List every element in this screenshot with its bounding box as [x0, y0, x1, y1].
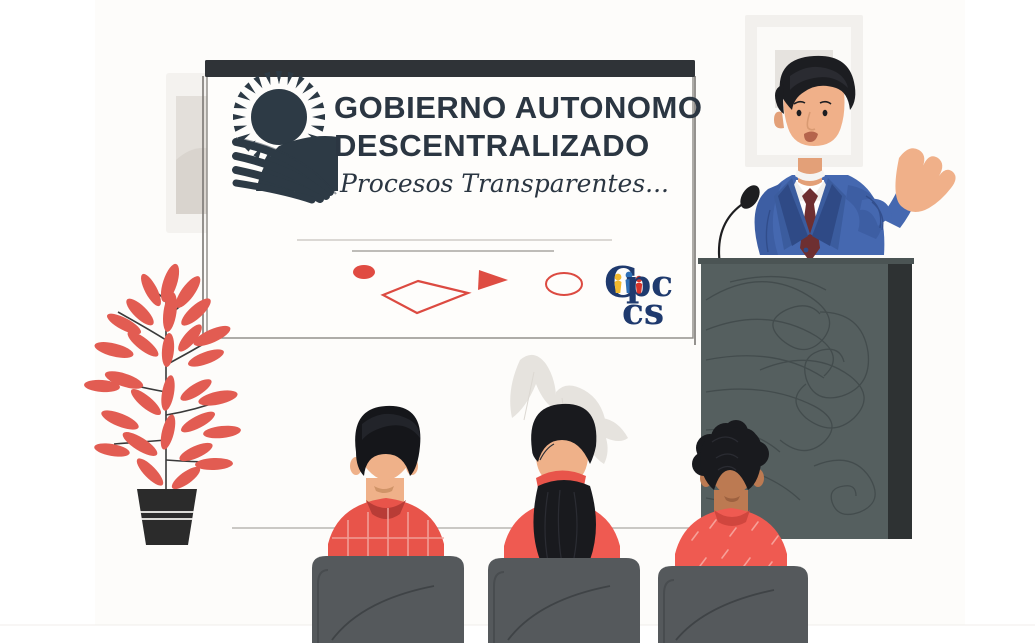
scene-svg: GOBIERNO AUTONOMO DESCENTRALIZADO Proces… [0, 0, 1035, 643]
audience-2-chair [488, 558, 640, 643]
speaker-eye-right [823, 110, 828, 116]
cpccs-line-2: cs [622, 291, 664, 333]
speaker-eye-left [797, 110, 802, 116]
podium-side [888, 262, 912, 539]
red-ellipse-filled [353, 265, 375, 279]
screen-tagline: Procesos Transparentes... [339, 169, 669, 198]
plant-pot [137, 489, 197, 545]
screen-heading-line-2: DESCENTRALIZADO [334, 128, 650, 163]
audience-3-chair [658, 566, 808, 643]
illustration-canvas: GOBIERNO AUTONOMO DESCENTRALIZADO Proces… [0, 0, 1035, 643]
screen-heading-line-1: GOBIERNO AUTONOMO [334, 90, 702, 125]
